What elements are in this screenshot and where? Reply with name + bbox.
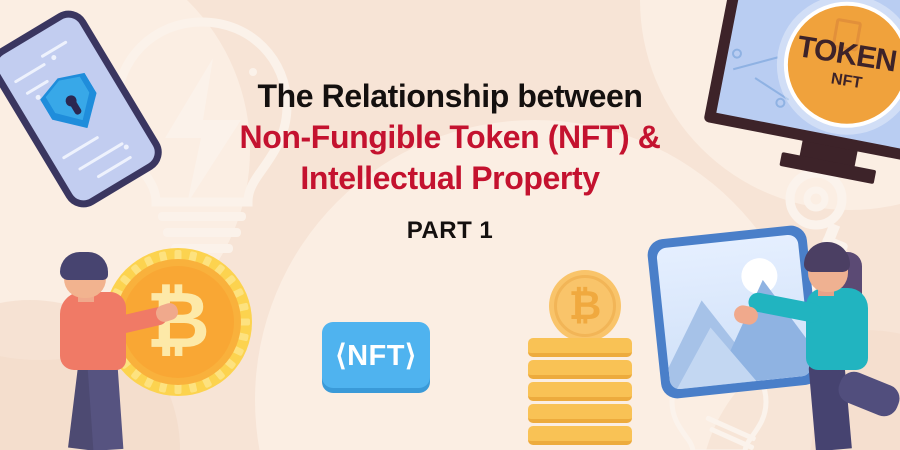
stacked-coin xyxy=(528,426,632,445)
person-left-graphic xyxy=(28,250,168,450)
person-right-hair xyxy=(804,242,850,272)
title-block: The Relationship between Non-Fungible To… xyxy=(0,76,900,245)
token-coin-label: TOKEN xyxy=(795,32,898,77)
coin-stack-top-coin: ₿ xyxy=(549,270,621,342)
nft-badge: ⟨NFT⟩ xyxy=(322,322,430,388)
stacked-coin xyxy=(528,360,632,379)
part-label: PART 1 xyxy=(0,217,900,245)
person-right-graphic xyxy=(790,238,900,450)
stacked-coin xyxy=(528,404,632,423)
nft-badge-label: ⟨NFT⟩ xyxy=(335,338,417,373)
title-line-1: The Relationship between xyxy=(0,76,900,117)
stacked-coin xyxy=(528,382,632,401)
person-right-leg xyxy=(808,359,852,450)
person-right-torso xyxy=(806,288,868,370)
coin-stack-graphic: ₿ xyxy=(528,270,638,445)
nft-ip-banner: TOKEN NFT ₿ The Relationship between Non… xyxy=(0,0,900,450)
stacked-coin xyxy=(528,338,632,357)
person-left-hair xyxy=(60,252,108,280)
title-line-3: Intellectual Property xyxy=(0,158,900,199)
coin-ring xyxy=(554,275,616,337)
title-line-2: Non-Fungible Token (NFT) & xyxy=(0,117,900,158)
